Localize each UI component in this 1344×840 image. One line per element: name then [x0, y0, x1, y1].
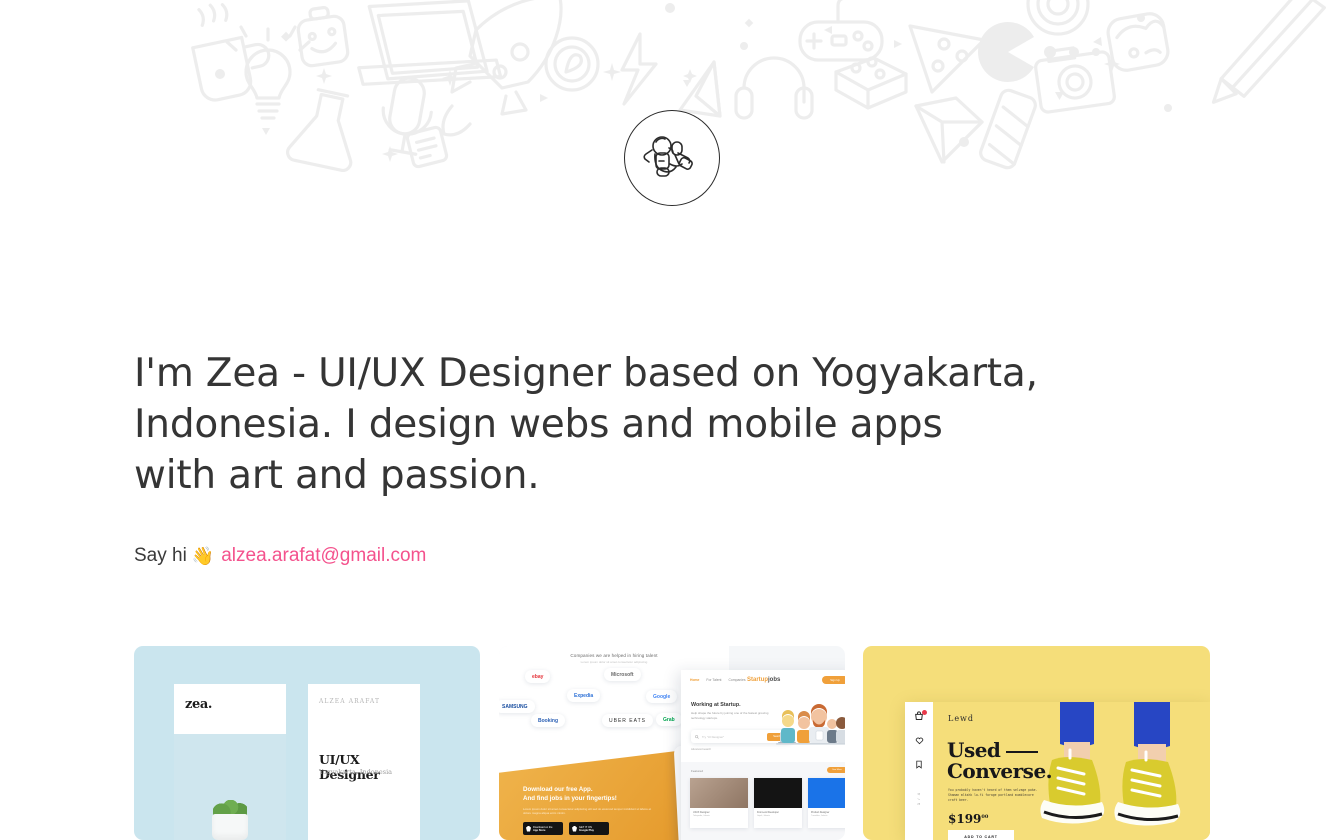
burger-icon [1106, 12, 1170, 73]
job-title: Front-end DeveloperGojek, Jakarta [754, 808, 802, 817]
business-card-back: ALZEA ARAFAT UI/UX Designer Yogyakarta, … [308, 684, 420, 840]
contact-line: Say hi 👋 alzea.arafat@gmail.com [134, 543, 426, 569]
business-card-front: zea. [174, 684, 286, 840]
nav-home[interactable]: Home [690, 678, 699, 682]
note-icon [406, 126, 447, 167]
brand-logo-text: zea. [185, 697, 212, 712]
project-card-branding[interactable]: zea. ALZEA ARAFAT UI/UX Designer Yogyaka… [134, 646, 480, 840]
plant-photo [204, 794, 256, 840]
coffee-mug-icon [193, 2, 271, 102]
contact-prefix: Say hi [134, 543, 187, 569]
team-illustration [774, 704, 845, 752]
brand-startup: Startup [747, 677, 768, 683]
email-link[interactable]: alzea.arafat@gmail.com [221, 543, 426, 569]
sj-hero-sub: Help shape the future by joining one of … [691, 711, 769, 720]
bookmark-icon[interactable] [915, 760, 923, 771]
slide-counter: 1 / 4 [917, 792, 921, 805]
job-thumb [690, 778, 748, 808]
job-tile[interactable]: Product DesignerTraveloka, Jakarta [808, 778, 845, 828]
job-search-input[interactable]: Try "UI Designer" [702, 735, 764, 739]
job-title: Product DesignerTraveloka, Jakarta [808, 808, 845, 817]
product-price: $19900 [948, 812, 988, 826]
featured-see-more-button[interactable]: See More [827, 767, 845, 773]
diamond-icon [916, 98, 982, 162]
google-play-big: Google Play [579, 829, 609, 832]
lego-brick-icon [836, 58, 906, 108]
promo-title-1: Download our free App. [523, 786, 655, 795]
companies-headline: Companies we are helped in hiring talent [499, 653, 729, 658]
cd-disc-icon [1028, 0, 1088, 34]
portfolio-page: I'm Zea - UI/UX Designer based on Yogyak… [0, 0, 1344, 840]
shop-brand-logo: Lewd [948, 714, 974, 723]
shop-hero: 1 / 4 Lewd Used Converse. You probably h… [905, 702, 1210, 840]
headphones-icon [736, 58, 812, 118]
price-value: $199 [948, 812, 981, 826]
job-tile[interactable]: Front-end DeveloperGojek, Jakarta [754, 778, 802, 828]
waving-hand-icon: 👋 [192, 547, 214, 565]
signup-button[interactable]: Sign Up [822, 676, 845, 684]
product-title-line2: Converse. [947, 759, 1052, 783]
logo-chip-samsung: SAMSUNG [499, 700, 535, 713]
logo-chip-booking: Booking [531, 714, 565, 727]
smartphone-icon [978, 88, 1037, 170]
heart-icon[interactable] [915, 736, 924, 747]
lego-head-icon [297, 7, 349, 67]
sneakers-photo [1030, 702, 1210, 840]
product-description: You probably haven't heard of them selva… [948, 788, 1044, 803]
paper-plane-icon [680, 62, 720, 116]
sj-hero-title: Working at Startup. [691, 702, 741, 708]
logo-chip-ubereats: UBER EATS [602, 714, 653, 727]
logo-chip-ebay: ebay [525, 670, 550, 683]
project-card-startupjobs[interactable]: Companies we are helped in hiring talent… [499, 646, 845, 840]
promo-title-2: And find jobs in your fingertips! [523, 795, 655, 804]
gamepad-icon [800, 0, 882, 60]
companies-subhead: Lorem ipsum dolor sit amet consectetur a… [499, 660, 729, 664]
microphone-icon [379, 76, 431, 154]
pizza-icon [910, 26, 984, 92]
projects-grid: zea. ALZEA ARAFAT UI/UX Designer Yogyaka… [134, 646, 1210, 840]
pacman-icon [978, 22, 1100, 82]
job-thumb [754, 778, 802, 808]
pencil-icon [1214, 0, 1326, 104]
price-cents: 00 [981, 814, 988, 820]
card-location: Yogyakarta, Indonesia [319, 768, 392, 776]
project-card-converse-shop[interactable]: 1 / 4 Lewd Used Converse. You probably h… [863, 646, 1210, 840]
featured-label: Featured [691, 769, 703, 773]
cart-badge [922, 710, 927, 715]
nav-companies[interactable]: Companies [728, 678, 745, 682]
job-company: Gojek, Jakarta [757, 815, 799, 817]
advanced-search-link[interactable]: Advanced search [691, 748, 711, 751]
nav-for-talent[interactable]: For Talent [706, 678, 721, 682]
add-to-cart-button[interactable]: ADD TO CART [948, 830, 1014, 840]
card-role: UI/UX Designer [319, 752, 420, 782]
lightbulb-icon [227, 27, 309, 118]
flask-icon [286, 90, 363, 172]
hero-section: I'm Zea - UI/UX Designer based on Yogyak… [134, 348, 1134, 501]
logo-chip-google: Google [646, 690, 677, 703]
store-badges: Download on the App Store GET IT ON Goog… [523, 822, 609, 835]
job-tile[interactable]: UI/UX DesignerTokopedia, Jakarta [690, 778, 748, 828]
plant-pot [212, 814, 248, 840]
promo-body: Lorem ipsum dolor sit amet consectetur a… [523, 807, 655, 816]
shop-side-rail: 1 / 4 [905, 702, 933, 840]
title-rule [1006, 751, 1038, 753]
logo-chip-grab: Grab [656, 713, 682, 726]
startupjobs-home-panel: Home For Talent Companies Sign in Startu… [681, 670, 845, 840]
search-icon [695, 735, 699, 739]
product-title: Used Converse. [947, 740, 1052, 782]
camera-icon [1035, 48, 1116, 113]
promo-copy: Download our free App. And find jobs in … [523, 786, 655, 816]
card-name-kicker: ALZEA ARAFAT [319, 698, 380, 705]
lightning-icon [622, 34, 656, 104]
app-store-big: App Store [533, 829, 563, 832]
app-store-badge[interactable]: Download on the App Store [523, 822, 563, 835]
shopping-bag-icon[interactable] [914, 711, 924, 723]
laptop-icon [357, 0, 502, 99]
compass-icon [546, 38, 598, 90]
rocket-icon [443, 0, 561, 135]
brand-jobs: jobs [768, 677, 780, 683]
job-thumb [808, 778, 845, 808]
google-play-badge[interactable]: GET IT ON Google Play [569, 822, 609, 835]
job-company: Traveloka, Jakarta [811, 815, 845, 817]
job-title: UI/UX DesignerTokopedia, Jakarta [690, 808, 748, 817]
job-tiles: UI/UX DesignerTokopedia, Jakarta Front-e… [690, 778, 845, 828]
page-title: I'm Zea - UI/UX Designer based on Yogyak… [134, 348, 1134, 501]
job-company: Tokopedia, Jakarta [693, 815, 745, 817]
logo-chip-expedia: Expedia [567, 689, 600, 702]
astronaut-icon [642, 128, 702, 188]
logo-chip-microsoft: Microsoft [604, 668, 641, 681]
logo-circle-border [624, 110, 720, 206]
site-brand: Startupjobs [747, 677, 780, 683]
astronaut-logo[interactable] [624, 110, 720, 206]
